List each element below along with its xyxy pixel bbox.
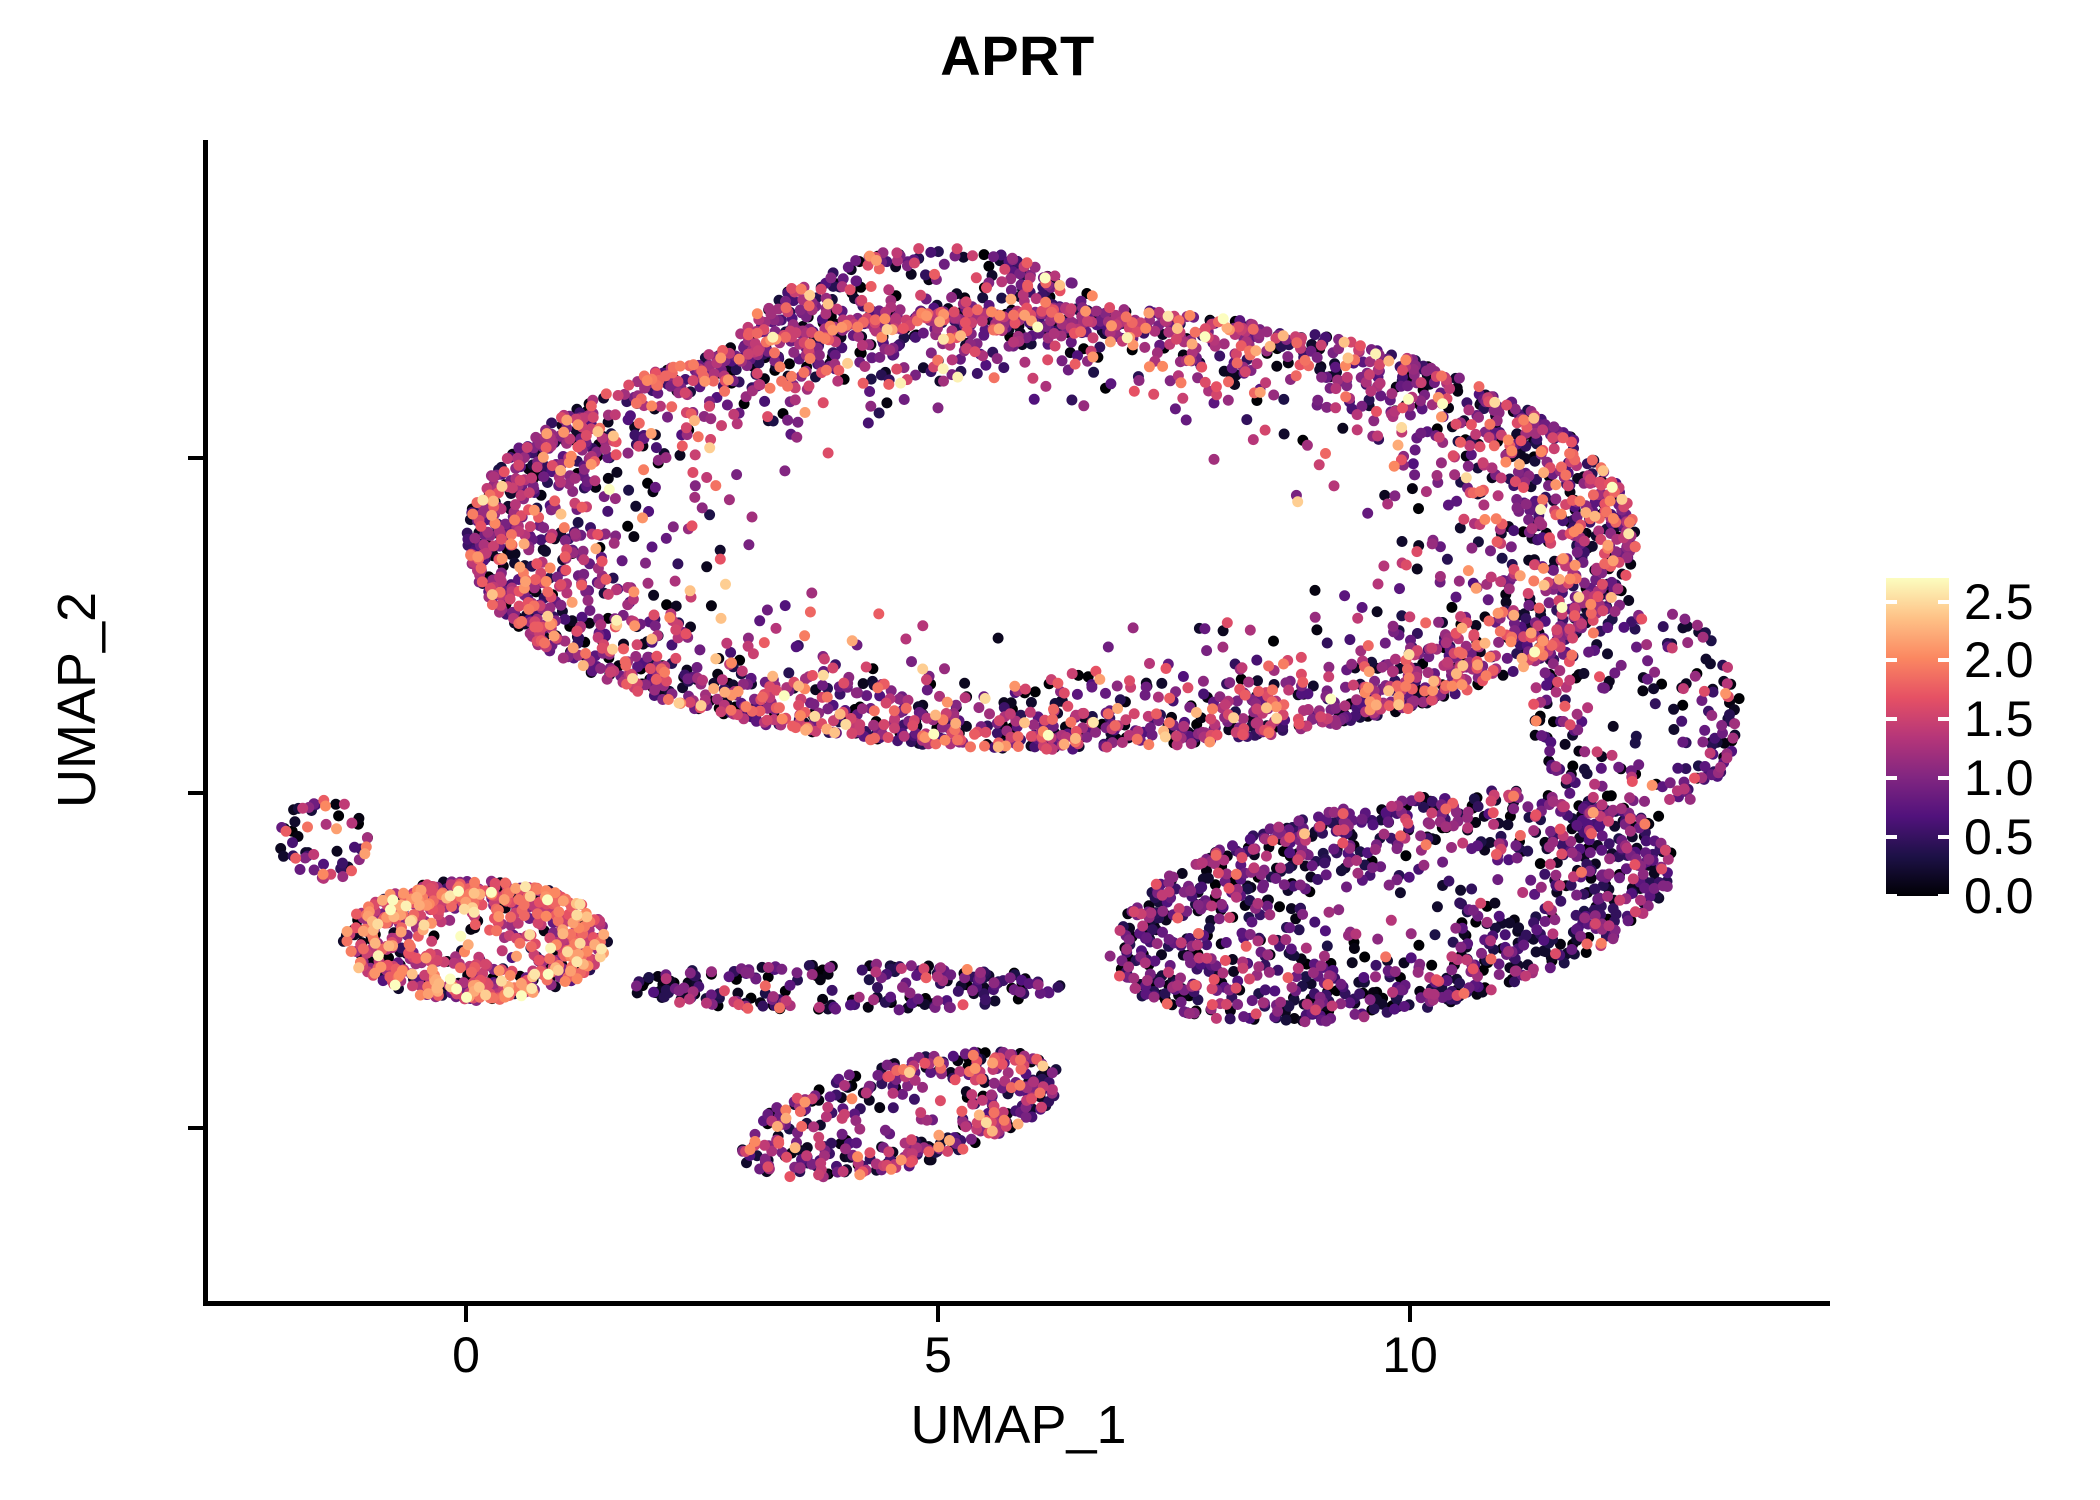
scatter-points: [207, 140, 1830, 1303]
point-group: [325, 243, 1671, 1171]
plot-panel[interactable]: [207, 140, 1830, 1303]
point-group: [367, 330, 1617, 1153]
x-tick-label: 5: [838, 1330, 1038, 1380]
y-tick-mark: [188, 1126, 203, 1130]
x-tick-mark: [1408, 1306, 1412, 1322]
scatter-points-layer: [207, 140, 1830, 1303]
colorbar-tick-mark: [1886, 600, 1897, 604]
colorbar-tick-label: 1.0: [1964, 753, 2100, 803]
page-title: APRT: [205, 28, 1830, 84]
point-group: [318, 290, 1619, 1174]
umap-feature-plot: APRT 0510 0510 UMAP_1 UMAP_2 2.52.01.51.…: [0, 0, 2100, 1500]
colorbar-gradient: [1886, 578, 1949, 896]
point-group: [317, 247, 1733, 1174]
x-tick-mark: [464, 1306, 468, 1322]
colorbar-tick-mark: [1938, 658, 1949, 662]
colorbar-tick-mark: [1938, 776, 1949, 780]
point-group: [379, 258, 1717, 1173]
colorbar-tick-label: 2.0: [1964, 635, 2100, 685]
x-axis-title: UMAP_1: [207, 1398, 1830, 1452]
colorbar-tick-mark: [1886, 776, 1897, 780]
colorbar-tick-label: 0.0: [1964, 871, 2100, 921]
x-axis-line: [203, 1301, 1830, 1306]
colorbar-tick-mark: [1886, 894, 1897, 898]
y-axis-line: [203, 140, 208, 1306]
colorbar-tick-mark: [1938, 600, 1949, 604]
y-tick-mark: [188, 456, 203, 460]
point-group: [303, 254, 1678, 1163]
colorbar-tick-mark: [1938, 835, 1949, 839]
colorbar-tick-label: 0.5: [1964, 812, 2100, 862]
point-group: [297, 247, 1733, 1177]
colorbar[interactable]: [1886, 578, 1949, 896]
colorbar-tick-mark: [1938, 894, 1949, 898]
color-legend[interactable]: 2.52.01.51.00.50.0: [1886, 578, 2086, 898]
colorbar-tick-mark: [1886, 835, 1897, 839]
colorbar-tick-mark: [1886, 717, 1897, 721]
colorbar-tick-mark: [1886, 658, 1897, 662]
colorbar-tick-label: 2.5: [1964, 577, 2100, 627]
x-tick-mark: [936, 1306, 940, 1322]
colorbar-tick-mark: [1938, 717, 1949, 721]
y-axis-title: UMAP_2: [50, 300, 104, 1100]
y-tick-mark: [188, 791, 203, 795]
point-group: [276, 256, 1717, 1139]
x-tick-label: 10: [1310, 1330, 1510, 1380]
colorbar-tick-label: 1.5: [1964, 694, 2100, 744]
x-tick-label: 0: [366, 1330, 566, 1380]
